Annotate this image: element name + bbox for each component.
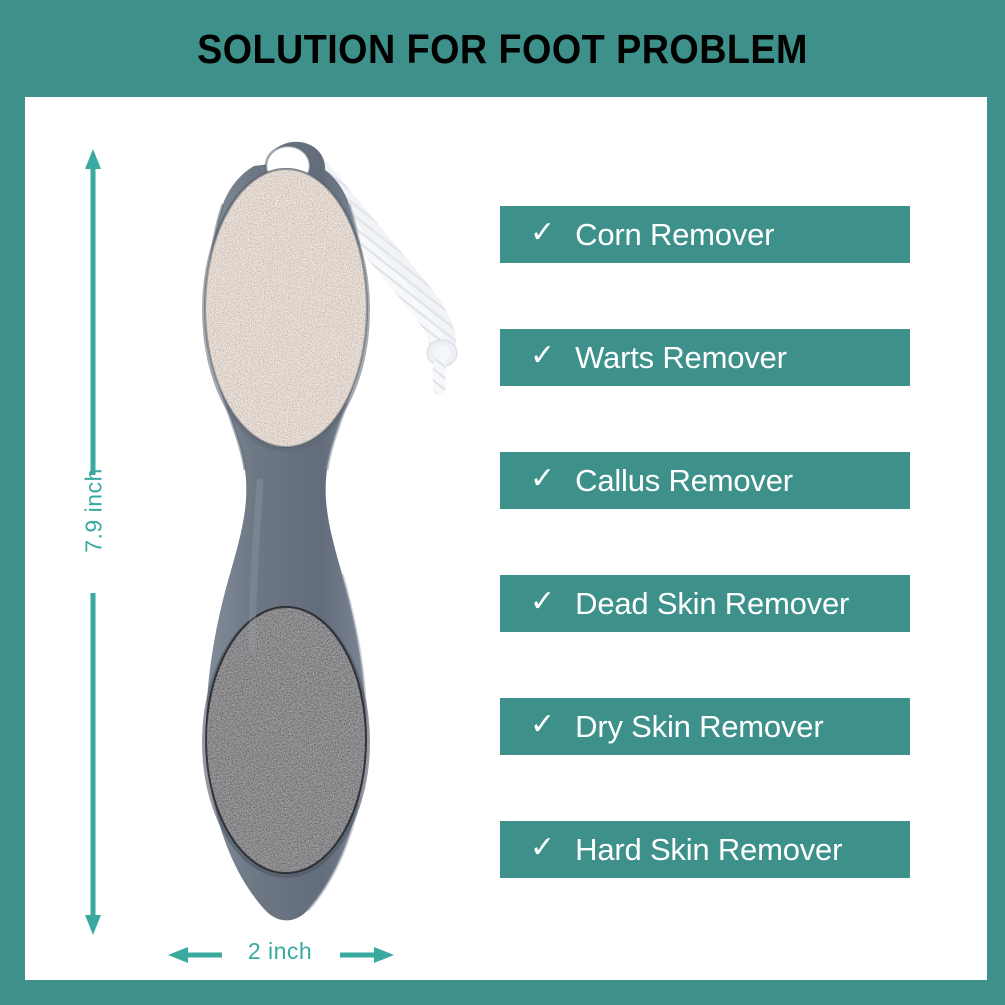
feature-item-dead-skin-remover[interactable]: ✓ Dead Skin Remover xyxy=(500,575,910,632)
pumice-stone-pad xyxy=(202,168,370,452)
feature-label: Callus Remover xyxy=(575,463,793,499)
feature-item-callus-remover[interactable]: ✓ Callus Remover xyxy=(500,452,910,509)
width-dimension-label: 2 inch xyxy=(210,938,350,965)
check-icon: ✓ xyxy=(530,587,555,617)
width-dimension: 2 inch xyxy=(150,930,410,982)
sandpaper-pad xyxy=(202,606,370,878)
height-dimension: 7.9 inch xyxy=(70,145,120,940)
product-image xyxy=(120,130,520,930)
page-title: SOLUTION FOR FOOT PROBLEM xyxy=(40,26,965,73)
header-bar: SOLUTION FOR FOOT PROBLEM xyxy=(0,0,1005,97)
product-infographic: SOLUTION FOR FOOT PROBLEM xyxy=(0,0,1005,1005)
feature-label: Warts Remover xyxy=(575,340,787,376)
feature-label: Dry Skin Remover xyxy=(575,709,823,745)
feature-item-dry-skin-remover[interactable]: ✓ Dry Skin Remover xyxy=(500,698,910,755)
feature-item-warts-remover[interactable]: ✓ Warts Remover xyxy=(500,329,910,386)
check-icon: ✓ xyxy=(530,710,555,740)
check-icon: ✓ xyxy=(530,341,555,371)
feature-label: Corn Remover xyxy=(575,217,774,253)
feature-list: ✓ Corn Remover ✓ Warts Remover ✓ Callus … xyxy=(500,206,910,878)
feature-label: Dead Skin Remover xyxy=(575,586,849,622)
check-icon: ✓ xyxy=(530,833,555,863)
height-dimension-label: 7.9 inch xyxy=(81,451,108,571)
feature-item-corn-remover[interactable]: ✓ Corn Remover xyxy=(500,206,910,263)
check-icon: ✓ xyxy=(530,464,555,494)
feature-label: Hard Skin Remover xyxy=(575,832,842,868)
check-icon: ✓ xyxy=(530,218,555,248)
feature-item-hard-skin-remover[interactable]: ✓ Hard Skin Remover xyxy=(500,821,910,878)
